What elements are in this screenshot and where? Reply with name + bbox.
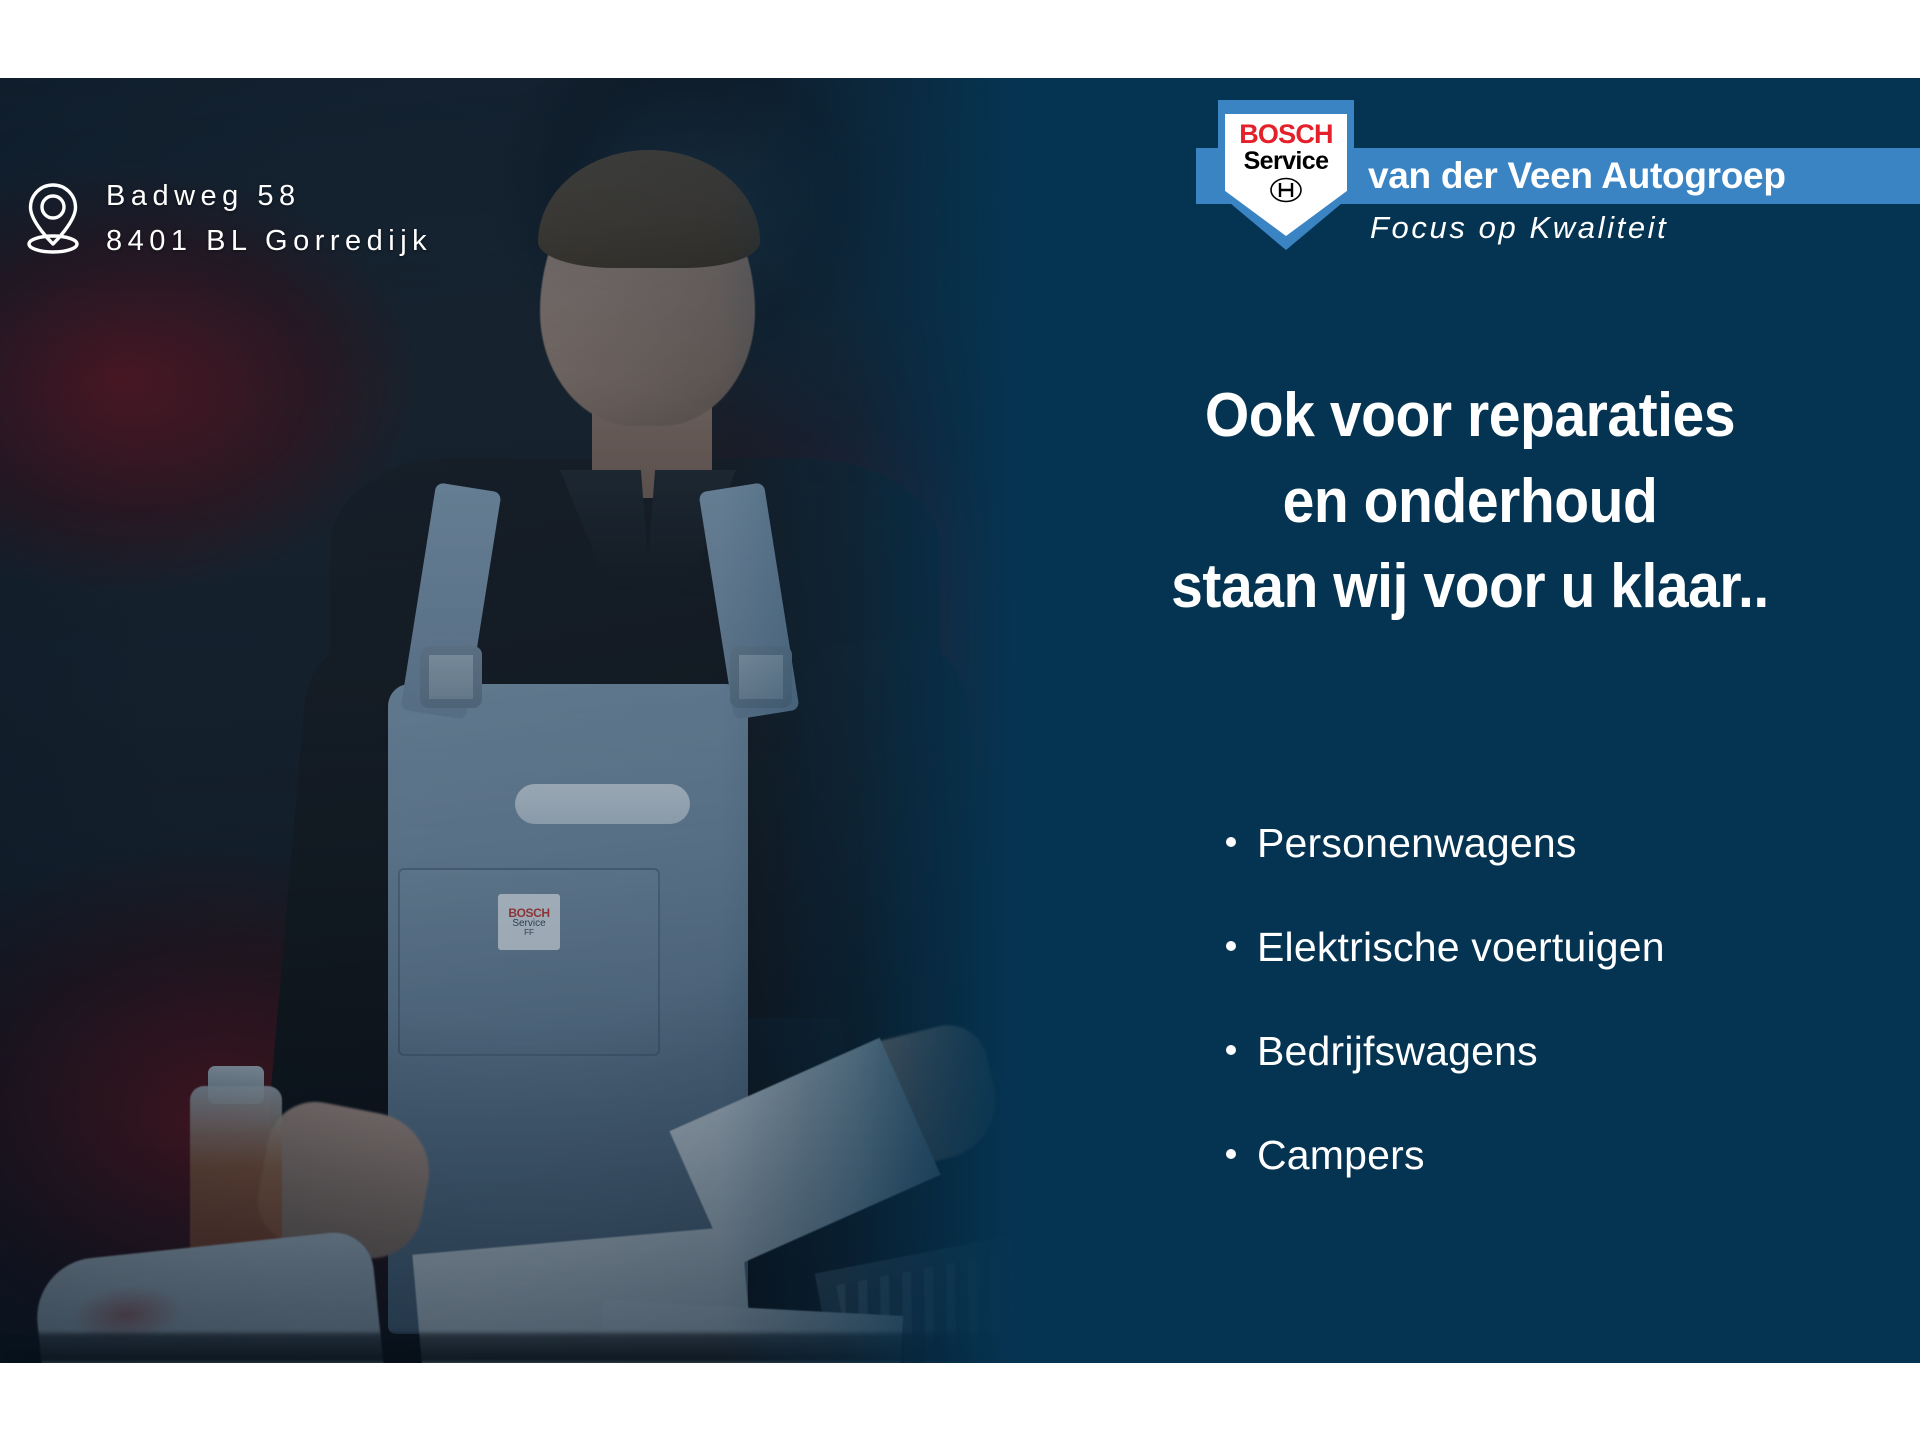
address-line-2: 8401 BL Gorredijk [106, 219, 432, 264]
list-item: Elektrische voertuigen [1226, 924, 1665, 971]
bullet-dot-icon [1226, 1045, 1236, 1055]
bullet-dot-icon [1226, 1149, 1236, 1159]
service-label: Campers [1257, 1132, 1425, 1179]
service-label: Elektrische voertuigen [1257, 924, 1665, 971]
service-wordmark: Service [1244, 148, 1329, 174]
banner: BOSCH Service FF [0, 78, 1920, 1363]
shield-inner-shape: BOSCH Service [1225, 114, 1347, 236]
address-block: Badweg 58 8401 BL Gorredijk [22, 174, 432, 264]
service-label: Personenwagens [1257, 820, 1577, 867]
company-tagline: Focus op Kwaliteit [1370, 210, 1668, 246]
list-item: Personenwagens [1226, 820, 1665, 867]
bosch-wordmark: BOSCH [1239, 120, 1333, 148]
headline-line-3: staan wij voor u klaar.. [1056, 544, 1884, 630]
photo-right-fade [720, 78, 1020, 1363]
map-pin-icon [22, 178, 84, 256]
headline: Ook voor reparaties en onderhoud staan w… [1056, 373, 1884, 630]
bosch-armature-icon [1269, 177, 1303, 203]
bosch-service-logo: BOSCH Service [1218, 100, 1354, 250]
address-line-1: Badweg 58 [106, 174, 432, 219]
services-list: Personenwagens Elektrische voertuigen Be… [1226, 820, 1665, 1179]
headline-line-1: Ook voor reparaties [1056, 373, 1884, 459]
list-item: Campers [1226, 1132, 1665, 1179]
service-label: Bedrijfswagens [1257, 1028, 1538, 1075]
brand-logo-lockup[interactable]: BOSCH Service van der Veen Autogroep Foc… [1196, 100, 1920, 250]
bullet-dot-icon [1226, 941, 1236, 951]
bullet-dot-icon [1226, 837, 1236, 847]
headline-line-2: en onderhoud [1056, 459, 1884, 545]
advertisement-banner-page: BOSCH Service FF [0, 0, 1920, 1440]
company-name: van der Veen Autogroep [1368, 148, 1786, 204]
address-text: Badweg 58 8401 BL Gorredijk [106, 174, 432, 264]
list-item: Bedrijfswagens [1226, 1028, 1665, 1075]
mechanic-photo: BOSCH Service FF [0, 78, 1020, 1363]
content-panel: BOSCH Service van der Veen Autogroep Foc… [1020, 78, 1920, 1363]
